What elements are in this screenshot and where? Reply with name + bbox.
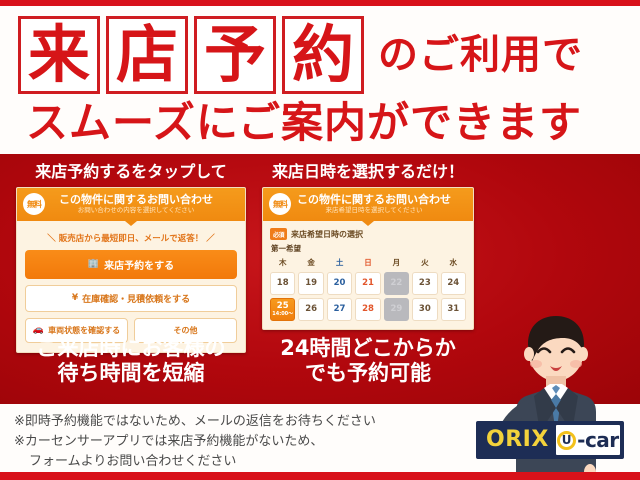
orix-wordmark: ORIX	[477, 429, 556, 451]
calendar-mockup: 無料 この物件に関するお問い合わせ 来店希望日時を選択してください 必須 来店希…	[262, 187, 474, 330]
feature-column-left: 来店予約するをタップして 無料 この物件に関するお問い合わせ お問い合わせの内容…	[16, 164, 246, 353]
calendar-day[interactable]: 26	[298, 298, 323, 321]
required-badge: 必須	[270, 228, 287, 240]
feature-panel: 来店予約するをタップして 無料 この物件に関するお問い合わせ お問い合わせの内容…	[0, 154, 640, 404]
right-caption-line-1: 24時間どこからか	[262, 336, 474, 361]
yen-icon: ¥	[72, 294, 78, 303]
headline: 来 店 予 約 のご利用で スムーズにご案内ができます	[0, 6, 640, 154]
car-icon: 🚗	[33, 326, 44, 335]
store-icon: 🏢	[88, 260, 99, 269]
inquiry-form-mockup: 無料 この物件に関するお問い合わせ お問い合わせの内容を選択してください ＼ 販…	[16, 187, 246, 353]
mockup-header-left: 無料 この物件に関するお問い合わせ お問い合わせの内容を選択してください	[17, 188, 245, 221]
calendar-week-2: 25 14:00～ 26 27 28 29 30 31	[270, 298, 466, 321]
left-caption: ご来店時にお客様の 待ち時間を短縮	[16, 336, 246, 386]
required-field-row: 必須 来店希望日時の選択	[270, 228, 466, 240]
calendar-day[interactable]: 21	[355, 272, 380, 295]
right-column-title: 来店日時を選択するだけ！	[262, 164, 474, 180]
calendar-week-1: 18 19 20 21 22 23 24	[270, 272, 466, 295]
calendar-day[interactable]: 18	[270, 272, 295, 295]
mockup-header-text-right: この物件に関するお問い合わせ 来店希望日時を選択してください	[297, 194, 469, 215]
calendar-day[interactable]: 20	[327, 272, 352, 295]
right-caption-line-2: でも予約可能	[262, 361, 474, 386]
required-field-label: 来店希望日時の選択	[291, 229, 363, 240]
dow-mon: 月	[384, 257, 409, 269]
vehicle-condition-label: 車両状態を確認する	[48, 325, 120, 336]
notice-line-3: フォームよりお問い合わせください	[14, 452, 464, 472]
free-badge-left: 無料	[23, 193, 45, 215]
headline-row-2: スムーズにご案内ができます	[26, 102, 626, 144]
mockup-header-text-left: この物件に関するお問い合わせ お問い合わせの内容を選択してください	[51, 194, 239, 215]
dow-wed: 水	[441, 257, 466, 269]
stock-quote-button[interactable]: ¥ 在庫確認・見積依頼をする	[25, 285, 237, 312]
calendar-body: 必須 来店希望日時の選択 第一希望 木 金 土 日 月 火 水 18	[263, 221, 473, 329]
calendar-day[interactable]: 27	[327, 298, 352, 321]
calendar-day[interactable]: 28	[355, 298, 380, 321]
stock-quote-label: 在庫確認・見積依頼をする	[82, 292, 190, 305]
left-caption-line-1: ご来店時にお客様の	[16, 336, 246, 361]
notice-line-1: ※即時予約機能ではないため、メールの返信をお待ちください	[14, 412, 464, 432]
ucar-u-mark: U	[557, 431, 576, 450]
promo-banner: 来 店 予 約 のご利用で スムーズにご案内ができます 来店予約するをタップして…	[0, 0, 640, 480]
calendar-day[interactable]: 31	[441, 298, 466, 321]
header-notch-left	[125, 221, 137, 226]
reserve-visit-button[interactable]: 🏢 来店予約をする	[25, 250, 237, 279]
feature-column-right: 来店日時を選択するだけ！ 無料 この物件に関するお問い合わせ 来店希望日時を選択…	[262, 164, 474, 330]
calendar-day[interactable]: 24	[441, 272, 466, 295]
ucar-suffix: -car	[577, 430, 619, 450]
mockup-header-title-right: この物件に関するお問い合わせ	[297, 194, 451, 206]
kanji-box-3: 予	[194, 16, 276, 94]
kanji-box-2: 店	[106, 16, 188, 94]
bottom-red-rule	[0, 472, 640, 480]
reserve-visit-label: 来店予約をする	[104, 257, 174, 272]
calendar-day-disabled: 29	[384, 298, 409, 321]
header-notch-right	[362, 221, 374, 226]
left-caption-line-2: 待ち時間を短縮	[16, 361, 246, 386]
calendar-day-headers: 木 金 土 日 月 火 水	[270, 257, 466, 269]
ucar-wordmark: U -car	[556, 425, 620, 455]
calendar-day-disabled: 22	[384, 272, 409, 295]
lead-text: ＼ 販売店から最短即日、メールで返答！ ／	[25, 232, 237, 244]
left-column-title: 来店予約するをタップして	[16, 164, 246, 180]
right-caption: 24時間どこからか でも予約可能	[262, 336, 474, 386]
kanji-box-1: 来	[18, 16, 100, 94]
other-label: その他	[174, 325, 198, 336]
preference-label: 第一希望	[271, 243, 466, 254]
mockup-header-subtitle-right: 来店希望日時を選択してください	[297, 206, 451, 214]
selected-day-number: 25	[277, 302, 289, 311]
dow-sat: 土	[327, 257, 352, 269]
calendar-day[interactable]: 30	[412, 298, 437, 321]
dow-sun: 日	[355, 257, 380, 269]
dow-tue: 火	[412, 257, 437, 269]
calendar-day-selected[interactable]: 25 14:00～	[270, 298, 295, 321]
mockup-header-title-left: この物件に関するお問い合わせ	[51, 194, 221, 206]
headline-tail: のご利用で	[378, 35, 583, 75]
kanji-box-4: 約	[282, 16, 364, 94]
mockup-body-left: ＼ 販売店から最短即日、メールで返答！ ／ 🏢 来店予約をする ¥ 在庫確認・見…	[17, 221, 245, 352]
dow-thu: 木	[270, 257, 295, 269]
notice-line-2: ※カーセンサーアプリでは来店予約機能がないため、	[14, 432, 464, 452]
orix-ucar-logo: ORIX U -car	[476, 421, 624, 459]
mockup-header-subtitle-left: お問い合わせの内容を選択してください	[51, 206, 221, 214]
dow-fri: 金	[298, 257, 323, 269]
calendar-day[interactable]: 23	[412, 272, 437, 295]
notice-text: ※即時予約機能ではないため、メールの返信をお待ちください ※カーセンサーアプリで…	[14, 412, 464, 472]
calendar-day[interactable]: 19	[298, 272, 323, 295]
mockup-header-right: 無料 この物件に関するお問い合わせ 来店希望日時を選択してください	[263, 188, 473, 221]
headline-row-1: 来 店 予 約 のご利用で	[18, 16, 583, 94]
selected-day-time: 14:00～	[272, 312, 293, 317]
free-badge-right: 無料	[269, 193, 291, 215]
